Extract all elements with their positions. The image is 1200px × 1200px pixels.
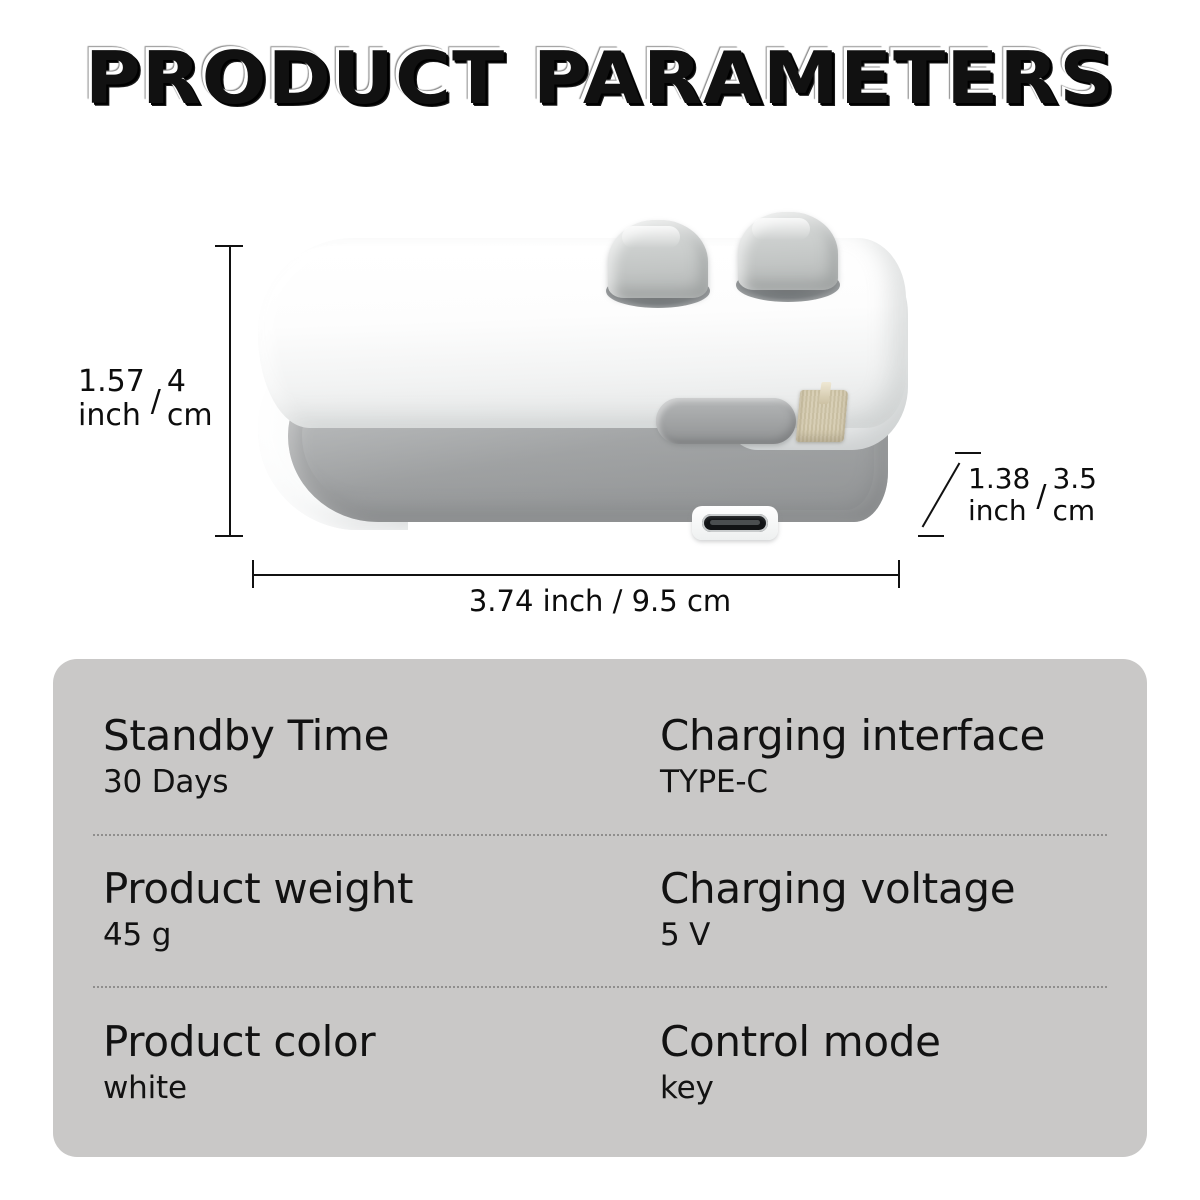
- spec-cell-standby-time: Standby Time 30 Days: [99, 681, 600, 834]
- width-dimension-text: 3.74 inch / 9.5 cm: [469, 584, 731, 618]
- depth-dimension-label: 1.38 inch / 3.5 cm: [968, 463, 1097, 527]
- spec-value-control-mode: key: [660, 1069, 1101, 1108]
- spec-row-weight-voltage: Product weight 45 g Charging voltage 5 V: [53, 834, 1147, 987]
- height-metric-value: 4: [167, 365, 213, 399]
- page-title: PRODUCT PARAMETERS: [85, 42, 1115, 114]
- spec-cell-charging-voltage: Charging voltage 5 V: [600, 834, 1101, 987]
- specifications-panel: Standby Time 30 Days Charging interface …: [53, 659, 1147, 1157]
- depth-metric-value: 3.5: [1052, 463, 1097, 495]
- specifications-rows: Standby Time 30 Days Charging interface …: [53, 659, 1147, 1157]
- product-parameters-infographic: PRODUCT PARAMETERS: [0, 0, 1200, 1200]
- spec-value-product-color: white: [103, 1069, 600, 1108]
- height-dimension-cap-top: [215, 245, 243, 247]
- spec-cell-product-weight: Product weight 45 g: [99, 834, 600, 987]
- spec-value-standby-time: 30 Days: [103, 763, 600, 802]
- spec-cell-product-color: Product color white: [99, 986, 600, 1139]
- height-dimension-line: [229, 245, 231, 537]
- spec-value-product-weight: 45 g: [103, 916, 600, 955]
- depth-imperial-unit: inch: [968, 495, 1030, 527]
- spec-label-charging-voltage: Charging voltage: [660, 865, 1101, 912]
- page-title-container: PRODUCT PARAMETERS: [0, 42, 1200, 114]
- spec-label-charging-interface: Charging interface: [660, 712, 1101, 759]
- spec-value-charging-interface: TYPE-C: [660, 763, 1101, 802]
- height-dimension-label: 1.57 inch / 4 cm: [78, 365, 213, 433]
- depth-dimension-cap-bottom: [918, 535, 944, 537]
- usb-c-port-tongue: [710, 520, 760, 525]
- spec-cell-control-mode: Control mode key: [600, 986, 1101, 1139]
- spec-label-control-mode: Control mode: [660, 1018, 1101, 1065]
- spec-label-standby-time: Standby Time: [103, 712, 600, 759]
- spec-cell-charging-interface: Charging interface TYPE-C: [600, 681, 1101, 834]
- product-illustration-stage: 1.57 inch / 4 cm 3.74 inch / 9.5 cm: [0, 180, 1200, 630]
- seal-slider-handle: [656, 398, 796, 444]
- spec-row-color-control: Product color white Control mode key: [53, 986, 1147, 1139]
- height-dimension-cap-bottom: [215, 535, 243, 537]
- left-press-button: [608, 220, 708, 298]
- product-device-image: [258, 210, 908, 540]
- width-dimension-label: 3.74 inch / 9.5 cm: [0, 584, 1200, 618]
- spec-value-charging-voltage: 5 V: [660, 916, 1101, 955]
- width-dimension-line: [252, 574, 900, 576]
- height-metric-unit: cm: [167, 399, 213, 433]
- depth-dimension-cap-top: [955, 452, 981, 454]
- height-imperial-unit: inch: [78, 399, 145, 433]
- height-imperial-value: 1.57: [78, 365, 145, 399]
- depth-separator: /: [1030, 479, 1052, 514]
- depth-dimension-line: [922, 462, 961, 527]
- spec-label-product-weight: Product weight: [103, 865, 600, 912]
- spec-row-standby-charging: Standby Time 30 Days Charging interface …: [53, 681, 1147, 834]
- depth-metric-unit: cm: [1052, 495, 1097, 527]
- right-press-button: [738, 212, 838, 290]
- height-separator: /: [145, 384, 167, 419]
- spec-label-product-color: Product color: [103, 1018, 600, 1065]
- depth-imperial-value: 1.38: [968, 463, 1030, 495]
